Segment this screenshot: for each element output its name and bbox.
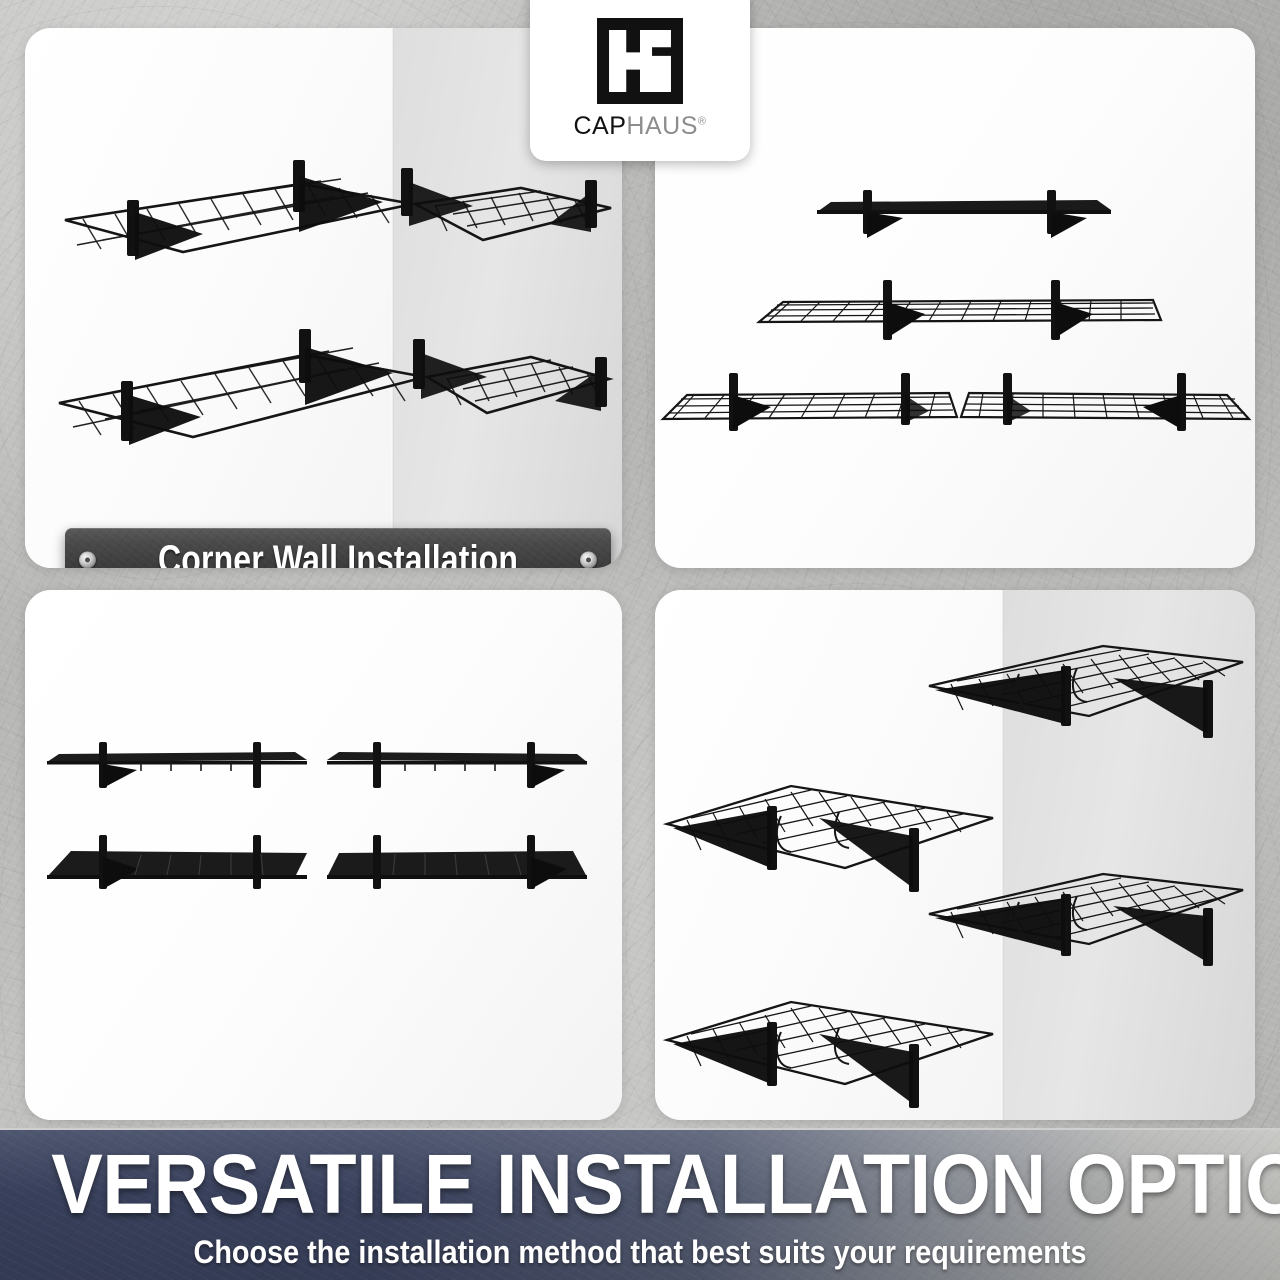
shelf-separate-top-right	[325, 740, 590, 810]
shelf-pyramid-tier2	[755, 280, 1165, 360]
brand-name-suffix: HAUS	[626, 112, 697, 140]
brand-logo-tab: CAPHAUS®	[530, 0, 750, 161]
shelf-separate-top-left	[45, 740, 310, 810]
shelf-corner-upper	[43, 148, 613, 288]
brand-name-prefix: CAP	[574, 112, 627, 140]
bottom-banner: VERSATILE INSTALLATION OPTIONS Choose th…	[0, 1128, 1280, 1280]
caption-corner-text: Corner Wall Installation	[158, 540, 518, 568]
shelf-pyramid-tier3	[661, 373, 1251, 453]
shelf-corner-lower	[43, 293, 613, 463]
shelf-separate-bottom-right	[325, 835, 590, 910]
panel-staggered: Staggered Installation	[655, 590, 1255, 1120]
infographic-canvas: Corner Wall Installation	[0, 0, 1280, 1280]
shelf-separate-bottom-left	[45, 835, 310, 910]
screw-icon-right	[580, 552, 597, 569]
caption-plate-corner: Corner Wall Installation	[65, 528, 611, 568]
shelf-pyramid-tier1	[815, 188, 1115, 258]
screw-icon-left	[79, 552, 96, 569]
panel-separate: Separate Installation	[25, 590, 622, 1120]
banner-subtitle: Choose the installation method that best…	[64, 1236, 1216, 1268]
caphaus-h-mark-icon	[597, 18, 683, 104]
shelf-staggered-1	[917, 628, 1247, 773]
registered-mark-icon: ®	[698, 116, 707, 128]
brand-wordmark: CAPHAUS®	[574, 114, 707, 139]
shelf-staggered-4	[663, 978, 1003, 1120]
banner-title: VERSATILE INSTALLATION OPTIONS	[51, 1142, 1229, 1226]
